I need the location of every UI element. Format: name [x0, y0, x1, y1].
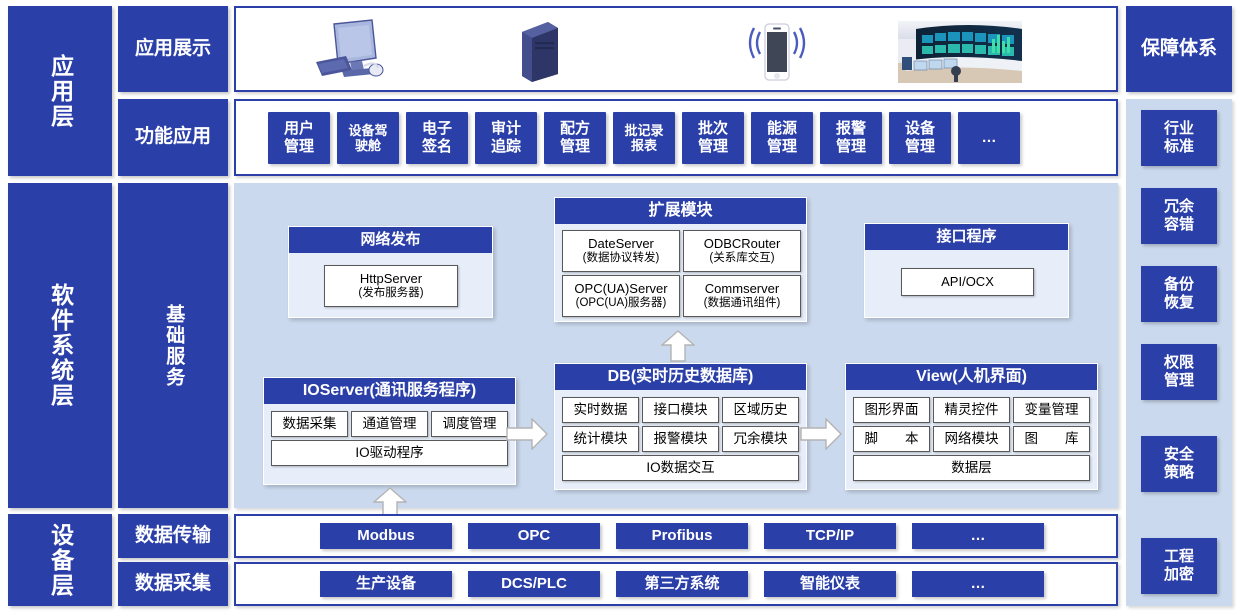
- db-cell-io-data-exchange[interactable]: IO数据交互: [562, 455, 799, 481]
- layer-device-label: 设备层: [46, 523, 73, 598]
- function-app-recipe-management[interactable]: 配方管理: [544, 112, 606, 164]
- label-line1: 安全: [1164, 446, 1194, 463]
- label-line1: 用户: [284, 120, 314, 137]
- label-line1: 设备驾: [348, 123, 387, 138]
- function-app-user-management[interactable]: 用户管理: [268, 112, 330, 164]
- label-line1: 审计: [491, 120, 521, 137]
- guarantee-item-security-policy[interactable]: 安全策略: [1141, 436, 1217, 492]
- function-app-energy-management[interactable]: 能源管理: [751, 112, 813, 164]
- cell-main: 实时数据: [574, 402, 628, 418]
- web-publish-card: 网络发布 HttpServer (发布服务器): [288, 226, 493, 318]
- label-line1: 配方: [560, 120, 590, 137]
- label-line1: 批记录: [624, 123, 663, 138]
- label-line2: 标准: [1164, 138, 1194, 155]
- arrow-right-db-to-view: [800, 418, 842, 450]
- label-line1: …: [982, 129, 997, 147]
- cell-main: 精灵控件: [945, 402, 999, 418]
- ioserver-cell-io-driver[interactable]: IO驱动程序: [271, 440, 508, 466]
- web-publish-cell-httpserver[interactable]: HttpServer (发布服务器): [324, 265, 458, 307]
- server-tower-icon: [512, 20, 568, 84]
- label-line1: 冗余: [1164, 198, 1194, 215]
- cell-sub: (数据通讯组件): [704, 297, 781, 310]
- label-line2: 加密: [1164, 566, 1194, 583]
- sublayer-function-application: 功能应用: [118, 99, 228, 176]
- cell-sub: (发布服务器): [358, 287, 423, 300]
- label-line2: 追踪: [491, 138, 521, 155]
- extension-cell-dateserver[interactable]: DateServer (数据协议转发): [562, 230, 680, 272]
- cell-sub: (关系库交互): [709, 252, 774, 265]
- sublayer-application-display: 应用展示: [118, 6, 228, 92]
- cell-main: 冗余模块: [734, 431, 788, 447]
- view-cell-data-layer[interactable]: 数据层: [853, 455, 1090, 481]
- view-title: View(人机界面): [846, 364, 1097, 390]
- cell-main: IO数据交互: [646, 460, 714, 476]
- label-line1: 行业: [1164, 120, 1194, 137]
- function-app-batch-management[interactable]: 批次管理: [682, 112, 744, 164]
- guarantee-item-redundancy-fault-tolerance[interactable]: 冗余容错: [1141, 188, 1217, 244]
- application-display-panel: [234, 6, 1118, 92]
- label-line2: 管理: [698, 138, 728, 155]
- arrow-up-extension: [661, 330, 695, 362]
- function-app-batch-record-report[interactable]: 批记录报表: [613, 112, 675, 164]
- label-line2: 容错: [1164, 216, 1194, 233]
- function-app-more[interactable]: …: [958, 112, 1020, 164]
- guarantee-item-permission-management[interactable]: 权限管理: [1141, 344, 1217, 400]
- desktop-computer-icon: [312, 18, 402, 84]
- protocol-label: …: [971, 527, 986, 545]
- interface-program-card: 接口程序 API/OCX: [864, 223, 1069, 318]
- extension-module-card: 扩展模块 DateServer (数据协议转发) ODBCRouter (关系库…: [554, 197, 807, 322]
- db-cell-realtime-data[interactable]: 实时数据: [562, 397, 639, 423]
- protocol-modbus[interactable]: Modbus: [320, 523, 452, 549]
- function-app-electronic-signature[interactable]: 电子签名: [406, 112, 468, 164]
- cell-main: 数据层: [951, 460, 992, 476]
- protocol-label: Modbus: [357, 527, 415, 545]
- cell-main: DateServer: [588, 237, 654, 252]
- sublayer-base-service-label: 基础服务: [162, 304, 184, 388]
- db-cell-alarm-module[interactable]: 报警模块: [642, 426, 719, 452]
- protocol-more[interactable]: …: [912, 523, 1044, 549]
- sublayer-data-transmission-label: 数据传输: [135, 525, 211, 547]
- sublayer-data-transmission: 数据传输: [118, 514, 228, 558]
- db-cell-interface-module[interactable]: 接口模块: [642, 397, 719, 423]
- source-label: 生产设备: [356, 575, 416, 593]
- source-label: DCS/PLC: [501, 575, 567, 593]
- label-line1: 权限: [1164, 354, 1194, 371]
- cell-main: 网络模块: [945, 431, 999, 447]
- extension-cell-commserver[interactable]: Commserver (数据通讯组件): [683, 275, 801, 317]
- cell-main: 变量管理: [1025, 402, 1079, 418]
- cell-main: 脚 本: [865, 431, 919, 447]
- db-cell-statistics-module[interactable]: 统计模块: [562, 426, 639, 452]
- mobile-phone-wireless-icon: [740, 16, 814, 86]
- cell-main: 统计模块: [574, 431, 628, 447]
- view-cell-network-module[interactable]: 网络模块: [933, 426, 1010, 452]
- cell-main: 调度管理: [443, 416, 497, 432]
- sublayer-application-display-label: 应用展示: [135, 38, 211, 60]
- sublayer-base-service: 基础服务: [118, 183, 228, 508]
- cell-main: 图 库: [1025, 431, 1079, 447]
- extension-cell-opcua-server[interactable]: OPC(UA)Server (OPC(UA)服务器): [562, 275, 680, 317]
- protocol-opc[interactable]: OPC: [468, 523, 600, 549]
- layer-application: 应用层: [8, 6, 112, 176]
- cell-main: IO驱动程序: [355, 445, 423, 461]
- guarantee-system-label: 保障体系: [1141, 38, 1217, 60]
- guarantee-item-engineering-encryption[interactable]: 工程加密: [1141, 538, 1217, 594]
- view-cell-variable-management[interactable]: 变量管理: [1013, 397, 1090, 423]
- view-card: View(人机界面) 图形界面 精灵控件 变量管理 脚 本 网络模块 图 库 数…: [845, 363, 1098, 490]
- layer-application-label: 应用层: [46, 54, 73, 129]
- layer-software-system-label: 软件系统层: [46, 283, 73, 408]
- extension-module-title: 扩展模块: [555, 198, 806, 224]
- label-line2: 管理: [284, 138, 314, 155]
- source-third-party-system[interactable]: 第三方系统: [616, 571, 748, 597]
- view-cell-graphic-library[interactable]: 图 库: [1013, 426, 1090, 452]
- interface-program-title: 接口程序: [865, 224, 1068, 250]
- source-label: 第三方系统: [644, 575, 719, 593]
- cell-main: 通道管理: [363, 416, 417, 432]
- cell-sub: (数据协议转发): [583, 252, 660, 265]
- sublayer-function-application-label: 功能应用: [135, 126, 211, 148]
- protocol-profibus[interactable]: Profibus: [616, 523, 748, 549]
- function-app-audit-trail[interactable]: 审计追踪: [475, 112, 537, 164]
- sublayer-data-acquisition: 数据采集: [118, 562, 228, 606]
- view-cell-graphic-interface[interactable]: 图形界面: [853, 397, 930, 423]
- label-line1: 报警: [836, 120, 866, 137]
- guarantee-system-title: 保障体系: [1126, 6, 1232, 92]
- view-cell-wizard-control[interactable]: 精灵控件: [933, 397, 1010, 423]
- label-line1: 备份: [1164, 276, 1194, 293]
- label-line1: 工程: [1164, 548, 1194, 565]
- cell-main: 区域历史: [734, 402, 788, 418]
- ioserver-card: IOServer(通讯服务程序) 数据采集 通道管理 调度管理 IO驱动程序: [263, 377, 516, 485]
- cell-sub: (OPC(UA)服务器): [576, 297, 667, 310]
- architecture-diagram: 应用层 软件系统层 设备层 应用展示 功能应用 基础服务 数据传输 数据采集: [0, 0, 1238, 612]
- layer-device: 设备层: [8, 514, 112, 606]
- cell-main: 报警模块: [654, 431, 708, 447]
- arrow-right-ioserver-to-db: [506, 418, 548, 450]
- ioserver-cell-channel-management[interactable]: 通道管理: [351, 411, 428, 437]
- cell-main: API/OCX: [941, 275, 994, 290]
- label-line2: 报表: [631, 138, 657, 153]
- guarantee-item-industry-standard[interactable]: 行业标准: [1141, 110, 1217, 166]
- label-line1: 批次: [698, 120, 728, 137]
- sublayer-data-acquisition-label: 数据采集: [135, 573, 211, 595]
- source-smart-instrument[interactable]: 智能仪表: [764, 571, 896, 597]
- protocol-tcpip[interactable]: TCP/IP: [764, 523, 896, 549]
- label-line2: 管理: [905, 138, 935, 155]
- cell-main: 数据采集: [283, 416, 337, 432]
- label-line2: 管理: [767, 138, 797, 155]
- protocol-label: TCP/IP: [806, 527, 854, 545]
- label-line1: 电子: [422, 120, 452, 137]
- label-line2: 策略: [1164, 464, 1194, 481]
- interface-cell-api-ocx[interactable]: API/OCX: [901, 268, 1034, 296]
- cell-main: OPC(UA)Server: [574, 282, 667, 297]
- label-line1: 设备: [905, 120, 935, 137]
- label-line2: 恢复: [1164, 294, 1194, 311]
- cell-main: 图形界面: [865, 402, 919, 418]
- source-more[interactable]: …: [912, 571, 1044, 597]
- db-cell-region-history[interactable]: 区域历史: [722, 397, 799, 423]
- source-dcs-plc[interactable]: DCS/PLC: [468, 571, 600, 597]
- db-title: DB(实时历史数据库): [555, 364, 806, 390]
- cell-main: ODBCRouter: [704, 237, 781, 252]
- layer-software-system: 软件系统层: [8, 183, 112, 508]
- label-line2: 管理: [836, 138, 866, 155]
- label-line2: 管理: [1164, 372, 1194, 389]
- db-cell-redundancy-module[interactable]: 冗余模块: [722, 426, 799, 452]
- ioserver-cell-data-collection[interactable]: 数据采集: [271, 411, 348, 437]
- control-room-photo: [898, 21, 1022, 83]
- source-label: 智能仪表: [800, 575, 860, 593]
- cell-main: Commserver: [705, 282, 779, 297]
- protocol-label: OPC: [518, 527, 551, 545]
- guarantee-item-backup-recovery[interactable]: 备份恢复: [1141, 266, 1217, 322]
- function-app-equipment-cockpit[interactable]: 设备驾驶舱: [337, 112, 399, 164]
- extension-cell-odbcrouter[interactable]: ODBCRouter (关系库交互): [683, 230, 801, 272]
- label-line2: 管理: [560, 138, 590, 155]
- function-app-equipment-management[interactable]: 设备管理: [889, 112, 951, 164]
- function-app-alarm-management[interactable]: 报警管理: [820, 112, 882, 164]
- label-line2: 签名: [422, 138, 452, 155]
- ioserver-title: IOServer(通讯服务程序): [264, 378, 515, 404]
- source-label: …: [971, 575, 986, 593]
- web-publish-title: 网络发布: [289, 227, 492, 253]
- label-line2: 驶舱: [355, 138, 381, 153]
- db-card: DB(实时历史数据库) 实时数据 接口模块 区域历史 统计模块 报警模块 冗余模…: [554, 363, 807, 490]
- view-cell-script[interactable]: 脚 本: [853, 426, 930, 452]
- label-line1: 能源: [767, 120, 797, 137]
- cell-main: 接口模块: [654, 402, 708, 418]
- source-production-equipment[interactable]: 生产设备: [320, 571, 452, 597]
- cell-main: HttpServer: [360, 272, 422, 287]
- protocol-label: Profibus: [652, 527, 713, 545]
- ioserver-cell-schedule-management[interactable]: 调度管理: [431, 411, 508, 437]
